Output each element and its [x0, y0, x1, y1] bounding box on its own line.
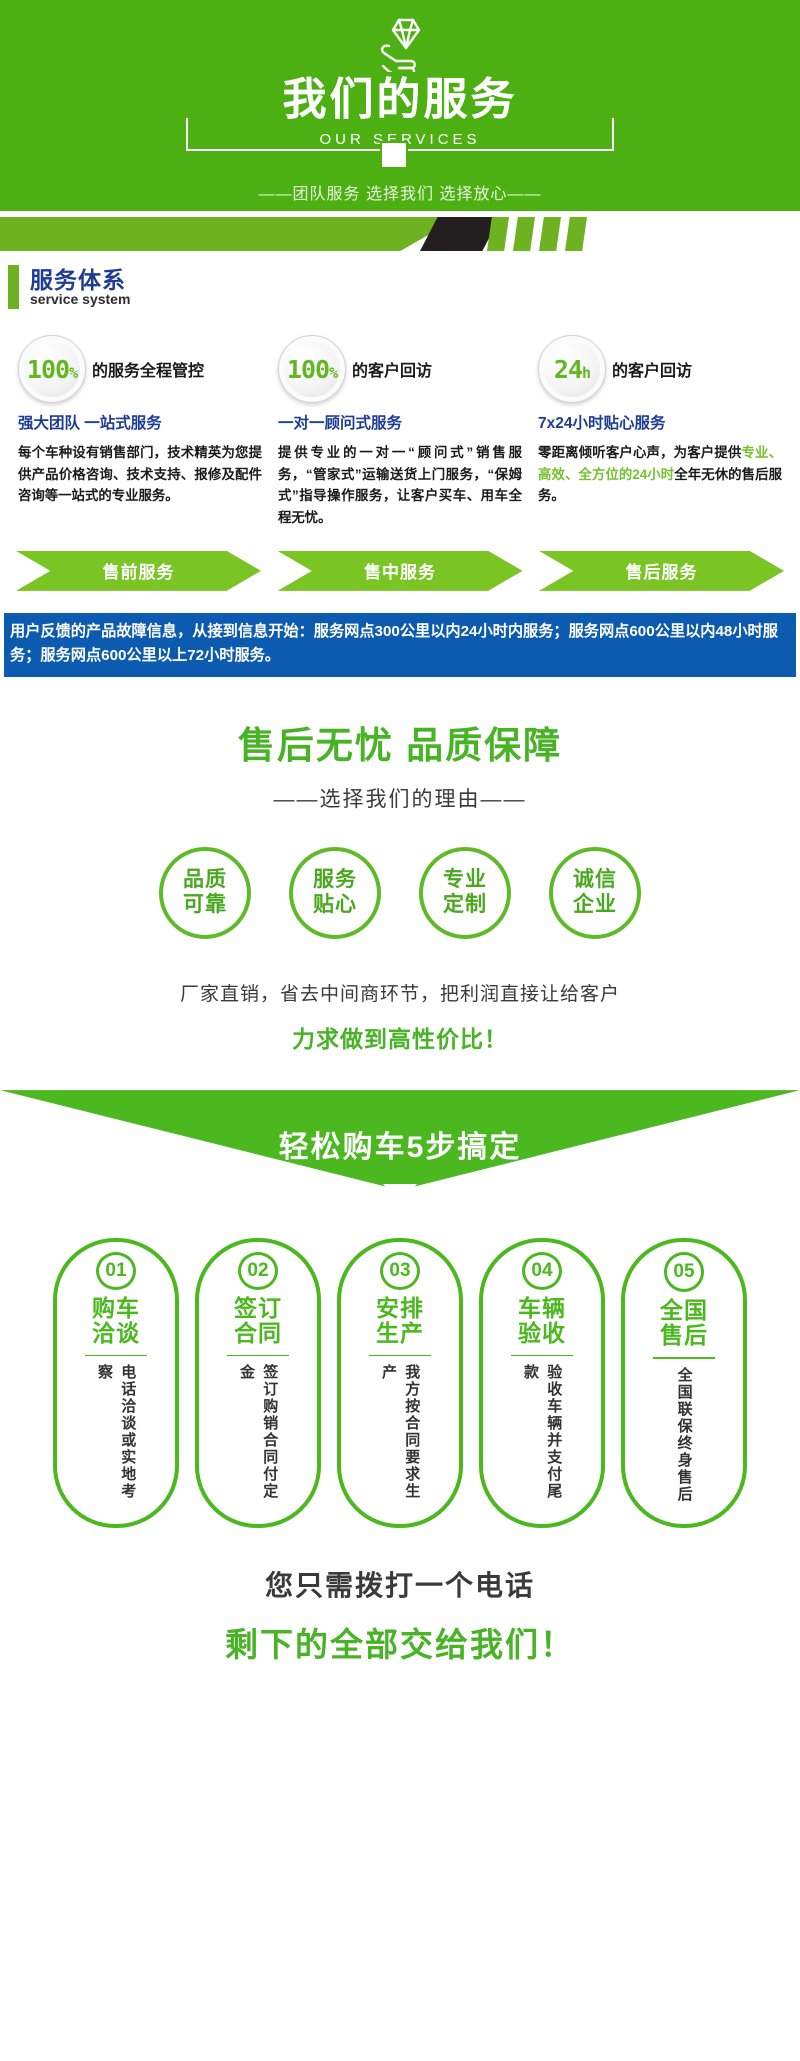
service-column-3: 24h 的客户回访 7x24小时贴心服务 零距离倾听客户心声，为客户提供专业、高… — [530, 333, 790, 529]
reason-circle-1-line1: 品质 — [183, 868, 227, 893]
service-columns: 100% 的服务全程管控 强大团队 一站式服务 每个车种设有销售部门，技术精英为… — [0, 319, 800, 529]
reason-circle-4-line2: 企业 — [573, 893, 617, 918]
banner-title: 轻松购车5步搞定 — [0, 1122, 800, 1166]
step-name-3: 安排 生产 — [376, 1296, 424, 1347]
badge-label-2: 的客户回访 — [352, 357, 432, 381]
step-number-5: 05 — [664, 1252, 704, 1292]
reason-circle-3: 专业 定制 — [419, 847, 511, 939]
heading-accent-bar — [8, 265, 19, 309]
step-item-5: 05 全国 售后 全国联保终身售后 — [621, 1238, 747, 1528]
down-arrow-icon — [383, 1184, 417, 1204]
reasons-title: 售后无忧 品质保障 — [0, 715, 800, 769]
percent-badge-icon-1: 100% — [18, 335, 86, 403]
reason-circle-1-line2: 可靠 — [183, 893, 227, 918]
badge-label-3: 的客户回访 — [612, 357, 692, 381]
step-item-2: 02 签订 合同 签订购销合同付定金 — [195, 1238, 321, 1528]
step-divider-5 — [653, 1357, 715, 1359]
step-item-3: 03 安排 生产 我方按合同要求生产 — [337, 1238, 463, 1528]
hero-frame-notch-inner — [382, 143, 406, 167]
footer-line-2: 剩下的全部交给我们！ — [0, 1618, 800, 1666]
badge-row-2: 100% 的客户回访 — [278, 333, 522, 405]
step-number-4: 04 — [522, 1252, 562, 1290]
percent-badge-icon-2: 100% — [278, 335, 346, 403]
footer-line-1: 您只需拨打一个电话 — [0, 1564, 800, 1604]
reason-circles: 品质 可靠 服务 贴心 专业 定制 诚信 企业 — [0, 847, 800, 939]
hero-tagline: ——团队服务 选择我们 选择放心—— — [0, 180, 800, 204]
service-system-title-en: service system — [30, 291, 130, 307]
reason-circle-4: 诚信 企业 — [549, 847, 641, 939]
step-desc-1: 电话洽谈或实地考察 — [93, 1364, 140, 1508]
column-body-1: 每个车种设有销售部门，技术精英为您提供产品价格咨询、技术支持、报修及配件咨询等一… — [18, 442, 262, 507]
strip-slash-2 — [513, 217, 535, 251]
reason-circle-2-line2: 贴心 — [313, 893, 357, 918]
strip-slash-3 — [539, 217, 561, 251]
reason-circle-1: 品质 可靠 — [159, 847, 251, 939]
purchase-steps-banner: 轻松购车5步搞定 — [0, 1090, 800, 1238]
step-divider-1 — [85, 1355, 147, 1357]
step-desc-5: 全国联保终身售后 — [672, 1367, 695, 1503]
column-title-1: 强大团队 一站式服务 — [18, 411, 262, 433]
service-stage-arrows: 售前服务 售中服务 售后服务 — [0, 529, 800, 591]
diamond-in-hand-icon — [0, 14, 800, 80]
strip-slash-4 — [565, 217, 587, 251]
column-title-2: 一对一顾问式服务 — [278, 411, 522, 433]
hero-section: 我们的服务 OUR SERVICES ——团队服务 选择我们 选择放心—— — [0, 0, 800, 211]
step-number-2: 02 — [238, 1252, 278, 1290]
step-divider-4 — [511, 1355, 573, 1357]
step-desc-3: 我方按合同要求生产 — [377, 1364, 424, 1508]
diagonal-strip — [0, 211, 800, 257]
stage-arrow-insale[interactable]: 售中服务 — [278, 551, 523, 591]
purchase-steps: 01 购车 洽谈 电话洽谈或实地考察 02 签订 合同 签订购销合同付定金 03… — [0, 1238, 800, 1528]
reason-circle-3-line2: 定制 — [443, 893, 487, 918]
reason-circle-4-line1: 诚信 — [573, 868, 617, 893]
step-item-4: 04 车辆 验收 验收车辆并支付尾款 — [479, 1238, 605, 1528]
step-divider-3 — [369, 1355, 431, 1357]
reasons-slogan-1: 厂家直销，省去中间商环节，把利润直接让给客户 — [0, 979, 800, 1006]
reasons-subtitle: ——选择我们的理由—— — [0, 783, 800, 813]
service-system-heading: 服务体系 service system — [0, 263, 800, 319]
step-name-1: 购车 洽谈 — [92, 1296, 140, 1347]
badge-row-3: 24h 的客户回访 — [538, 333, 782, 405]
stage-arrow-presale[interactable]: 售前服务 — [16, 551, 261, 591]
stage-arrow-aftersale[interactable]: 售后服务 — [539, 551, 784, 591]
step-divider-2 — [227, 1355, 289, 1357]
step-name-4: 车辆 验收 — [518, 1296, 566, 1347]
column-body-2: 提供专业的一对一“顾问式”销售服务，“管家式”运输送货上门服务，“保姆式”指导操… — [278, 442, 522, 529]
reason-circle-2: 服务 贴心 — [289, 847, 381, 939]
badge-label-1: 的服务全程管控 — [92, 357, 204, 381]
step-desc-4: 验收车辆并支付尾款 — [519, 1364, 566, 1508]
strip-green-block — [0, 217, 460, 251]
step-number-3: 03 — [380, 1252, 420, 1290]
service-column-1: 100% 的服务全程管控 强大团队 一站式服务 每个车种设有销售部门，技术精英为… — [10, 333, 270, 529]
service-column-2: 100% 的客户回访 一对一顾问式服务 提供专业的一对一“顾问式”销售服务，“管… — [270, 333, 530, 529]
service-system-title-cn: 服务体系 — [30, 261, 126, 295]
page-title: 我们的服务 — [0, 78, 800, 122]
step-item-1: 01 购车 洽谈 电话洽谈或实地考察 — [53, 1238, 179, 1528]
step-desc-2: 签订购销合同付定金 — [235, 1364, 282, 1508]
step-name-5: 全国 售后 — [660, 1298, 708, 1349]
reasons-slogan-2: 力求做到高性价比！ — [0, 1020, 800, 1054]
column-title-3: 7x24小时贴心服务 — [538, 411, 782, 433]
step-name-2: 签订 合同 — [234, 1296, 282, 1347]
reason-circle-2-line1: 服务 — [313, 868, 357, 893]
reason-circle-3-line1: 专业 — [443, 868, 487, 893]
step-number-1: 01 — [96, 1252, 136, 1290]
badge-row-1: 100% 的服务全程管控 — [18, 333, 262, 405]
hours-badge-icon-3: 24h — [538, 335, 606, 403]
service-response-bar: 用户反馈的产品故障信息，从接到信息开始：服务网点300公里以内24小时内服务；服… — [4, 613, 796, 677]
column-body-3: 零距离倾听客户心声，为客户提供专业、高效、全方位的24小时全年无休的售后服务。 — [538, 442, 782, 507]
